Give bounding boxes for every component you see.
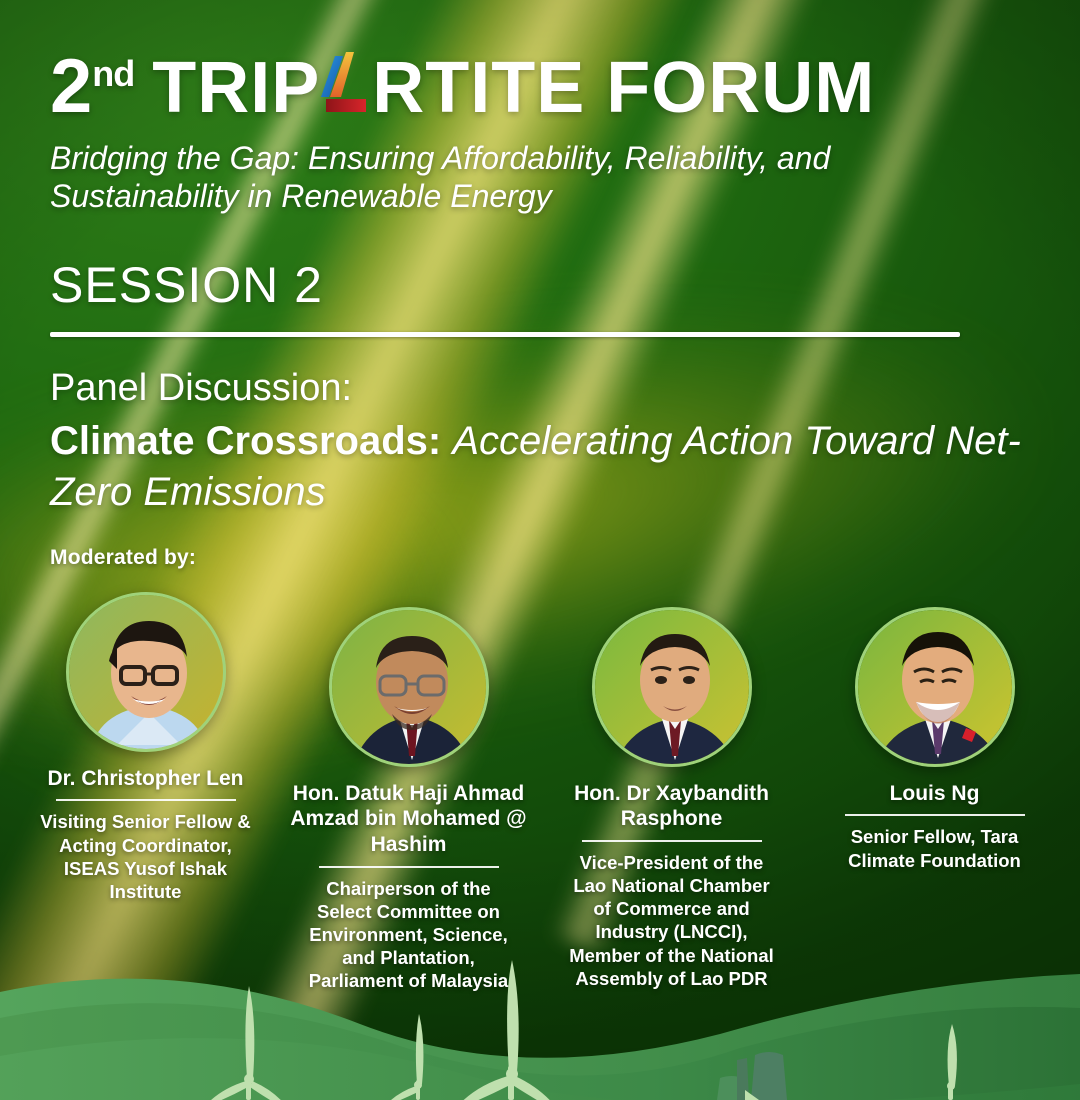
avatar (66, 592, 226, 752)
speaker-name: Hon. Datuk Haji Ahmad Amzad bin Mohamed … (277, 781, 540, 858)
title-part-2: RTITE FORUM (372, 52, 875, 124)
speaker-divider (319, 866, 499, 868)
speaker-card: Hon. Dr Xaybandith Rasphone Vice-Preside… (540, 592, 803, 992)
ordinal-suffix: nd (92, 53, 134, 94)
ordinal-number-value: 2 (50, 44, 91, 129)
panel-title-bold: Climate Crossroads: (50, 419, 441, 463)
poster-content: 2nd TRIP (0, 0, 1080, 570)
speaker-name: Louis Ng (890, 781, 980, 807)
speaker-card: Louis Ng Senior Fellow, Tara Climate Fou… (803, 592, 1066, 992)
moderated-by-label: Moderated by: (50, 546, 1030, 570)
ordinal-number: 2nd (50, 52, 134, 122)
speaker-card: Hon. Datuk Haji Ahmad Amzad bin Mohamed … (277, 592, 540, 992)
speaker-divider (582, 840, 762, 842)
main-title: 2nd TRIP (50, 0, 1030, 124)
portrait-christopher-len-icon (69, 595, 223, 749)
speaker-name: Hon. Dr Xaybandith Rasphone (540, 781, 803, 832)
event-poster: 2nd TRIP (0, 0, 1080, 1100)
tripartite-a-logo-icon (321, 55, 371, 121)
speaker-divider (56, 799, 236, 801)
speaker-divider (845, 814, 1025, 816)
session-label: SESSION 2 (50, 256, 1030, 314)
portrait-ahmad-amzad-icon (332, 610, 486, 764)
speaker-role: Senior Fellow, Tara Climate Foundation (827, 825, 1042, 871)
forum-title-text: TRIP (152, 52, 875, 124)
hills-and-turbines-illustration (0, 960, 1080, 1100)
section-divider (50, 332, 960, 337)
panel-title: Climate Crossroads: Accelerating Action … (50, 416, 1030, 518)
avatar (592, 607, 752, 767)
title-part-1: TRIP (152, 52, 320, 124)
speaker-list: Dr. Christopher Len Visiting Senior Fell… (0, 592, 1080, 992)
portrait-xaybandith-rasphone-icon (595, 610, 749, 764)
speaker-role: Visiting Senior Fellow & Acting Coordina… (38, 810, 253, 903)
portrait-louis-ng-icon (858, 610, 1012, 764)
avatar (329, 607, 489, 767)
panel-kicker: Panel Discussion: (50, 367, 1030, 410)
speaker-card: Dr. Christopher Len Visiting Senior Fell… (14, 592, 277, 992)
event-subtitle: Bridging the Gap: Ensuring Affordability… (50, 140, 1010, 216)
speaker-name: Dr. Christopher Len (47, 766, 243, 792)
avatar (855, 607, 1015, 767)
